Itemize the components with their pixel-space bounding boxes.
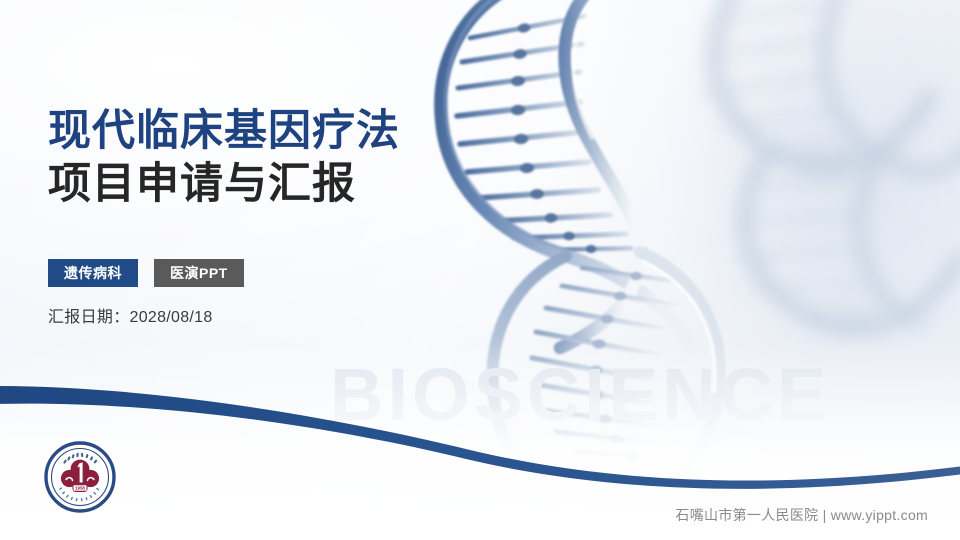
tag-row: 遗传病科 医演PPT <box>48 259 244 287</box>
report-date: 汇报日期：2028/08/18 <box>48 303 213 327</box>
footer-text: 石嘴山市第一人民医院 | www.yippt.com <box>675 505 928 525</box>
presentation-title-slide: BIOSCIENCE 现代临床基因疗法 项目申请与汇报 遗传病科 医演PPT 汇… <box>0 0 960 540</box>
logo-year: 1958 <box>75 486 85 491</box>
page-title-line-2: 项目申请与汇报 <box>48 159 568 210</box>
title-block: 现代临床基因疗法 项目申请与汇报 <box>48 106 568 209</box>
tag-department[interactable]: 遗传病科 <box>48 259 138 287</box>
hospital-logo: 1958 <box>44 441 116 513</box>
tag-brand[interactable]: 医演PPT <box>154 259 244 287</box>
page-title-line-1: 现代临床基因疗法 <box>48 106 568 157</box>
